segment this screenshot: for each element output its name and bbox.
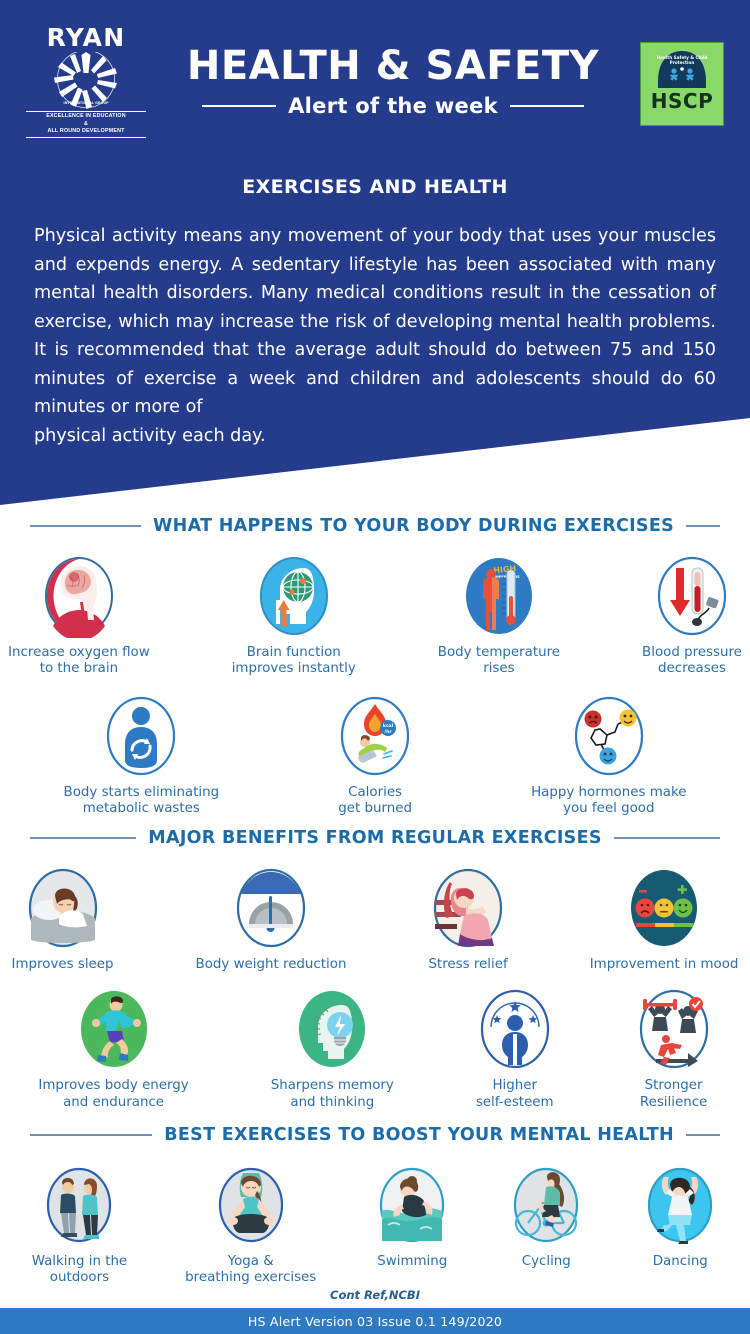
header: RYAN: [0, 24, 750, 144]
item-label: Improves sleep: [12, 957, 114, 973]
section-rule-left-3: [30, 1134, 152, 1136]
item-label: Sharpens memoryand thinking: [271, 1078, 394, 1111]
item-label: Yoga &breathing exercises: [185, 1254, 316, 1287]
hscp-acronym: HSCP: [651, 91, 713, 111]
brain-head-icon: [41, 554, 117, 638]
ryan-logo: RYAN: [26, 25, 146, 143]
section-title-3: BEST EXERCISES TO BOOST YOUR MENTAL HEAL…: [164, 1125, 674, 1145]
ryan-sunburst-icon: INTERNATIONAL GROUP: [49, 52, 123, 110]
item-label: Body starts eliminatingmetabolic wastes: [64, 785, 220, 818]
item-label: Brain functionimproves instantly: [232, 645, 356, 678]
relaxed-woman-icon: [430, 866, 506, 950]
thermometer-body-icon: HIGH TEMPERATURE: [461, 554, 537, 638]
section-rule-right-2: [614, 837, 720, 839]
svg-text:/hr: /hr: [384, 729, 392, 735]
serotonin-molecule-icon: [571, 694, 647, 778]
section-header-2: MAJOR BENEFITS FROM REGULAR EXERCISES: [0, 828, 750, 848]
body-recycle-icon: [103, 694, 179, 778]
section-best-exercises: BEST EXERCISES TO BOOST YOUR MENTAL HEAL…: [0, 1125, 750, 1287]
footer-version-bar: HS Alert Version 03 Issue 0.1 149/2020: [0, 1308, 750, 1334]
intro-paragraph-last-line: physical activity each day.: [34, 422, 716, 451]
item-label: Body weight reduction: [196, 957, 347, 973]
item-happy-hormones[interactable]: Happy hormones makeyou feel good: [531, 694, 686, 818]
title-rule-right: [510, 105, 584, 107]
item-swimming[interactable]: Swimming: [374, 1163, 450, 1270]
icon-row-3-1: Walking in theoutdoors: [0, 1163, 750, 1287]
weight-scale-icon: [233, 866, 309, 950]
item-yoga-breathing[interactable]: Yoga &breathing exercises: [185, 1163, 316, 1287]
icon-row-2-1: Improves sleep Body weight reduction: [0, 866, 750, 973]
svg-text:INTERNATIONAL GROUP: INTERNATIONAL GROUP: [63, 101, 109, 105]
item-blood-pressure[interactable]: Blood pressuredecreases: [642, 554, 742, 678]
section-title-1: WHAT HAPPENS TO YOUR BODY DURING EXERCIS…: [153, 516, 674, 536]
calorie-flame-icon: kcal /hr: [337, 694, 413, 778]
swimmer-icon: [374, 1163, 450, 1247]
ryan-logo-tagline: EXCELLENCE IN EDUCATION & ALL ROUND DEVE…: [26, 111, 146, 138]
cyclist-icon: [508, 1163, 584, 1247]
item-stronger-resilience[interactable]: StrongerResilience: [636, 987, 712, 1111]
item-stress-relief[interactable]: Stress relief: [428, 866, 507, 973]
ryan-logo-wordmark: RYAN: [26, 25, 146, 50]
item-label: StrongerResilience: [640, 1078, 707, 1111]
reference-note: Cont Ref,NCBI: [0, 1288, 750, 1302]
item-body-energy[interactable]: Improves body energyand endurance: [38, 987, 188, 1111]
intro-title: EXERCISES AND HEALTH: [34, 176, 716, 198]
section-what-happens: WHAT HAPPENS TO YOUR BODY DURING EXERCIS…: [0, 516, 750, 817]
title-rule-left: [202, 105, 276, 107]
footer-version-text: HS Alert Version 03 Issue 0.1 149/2020: [248, 1314, 502, 1329]
item-dancing[interactable]: Dancing: [642, 1163, 718, 1270]
item-walking-outdoors[interactable]: Walking in theoutdoors: [32, 1163, 127, 1287]
item-label: Caloriesget burned: [338, 785, 412, 818]
item-increase-oxygen-flow[interactable]: Increase oxygen flowto the brain: [8, 554, 150, 678]
item-label: Higherself-esteem: [476, 1078, 554, 1111]
item-label: Body temperaturerises: [438, 645, 560, 678]
page-title: HEALTH & SAFETY: [146, 45, 640, 87]
running-man-icon: [76, 987, 152, 1071]
icon-row-1-2: Body starts eliminatingmetabolic wastes …: [0, 694, 750, 818]
item-label: Swimming: [377, 1254, 447, 1270]
header-title-block: HEALTH & SAFETY Alert of the week: [146, 45, 640, 124]
item-label: Cycling: [522, 1254, 571, 1270]
item-cycling[interactable]: Cycling: [508, 1163, 584, 1270]
item-self-esteem[interactable]: Higherself-esteem: [476, 987, 554, 1111]
sleeping-person-icon: [25, 866, 101, 950]
item-label: Improves body energyand endurance: [38, 1078, 188, 1111]
section-rule-left-2: [30, 837, 136, 839]
item-calories-burned[interactable]: kcal /hr Caloriesget burned: [337, 694, 413, 818]
yoga-woman-icon: [213, 1163, 289, 1247]
svg-text:kcal: kcal: [383, 723, 394, 729]
ryan-tagline-line2: ALL ROUND DEVELOPMENT: [26, 128, 146, 136]
mood-faces-icon: [626, 866, 702, 950]
svg-text:Protection: Protection: [670, 60, 695, 65]
item-label: Dancing: [653, 1254, 708, 1270]
head-lightbulb-icon: [294, 987, 370, 1071]
item-label: Blood pressuredecreases: [642, 645, 742, 678]
section-title-2: MAJOR BENEFITS FROM REGULAR EXERCISES: [148, 828, 601, 848]
item-weight-reduction[interactable]: Body weight reduction: [196, 866, 347, 973]
hscp-arch-icon: Health Safety & Child Protection: [653, 48, 711, 90]
item-label: Happy hormones makeyou feel good: [531, 785, 686, 818]
section-rule-right-1: [686, 525, 720, 527]
item-body-temperature[interactable]: HIGH TEMPERATURE: [438, 554, 560, 678]
item-improves-sleep[interactable]: Improves sleep: [12, 866, 114, 973]
hscp-logo: Health Safety & Child Protection HSCP: [640, 42, 724, 126]
section-major-benefits: MAJOR BENEFITS FROM REGULAR EXERCISES: [0, 828, 750, 1111]
section-header-3: BEST EXERCISES TO BOOST YOUR MENTAL HEAL…: [0, 1125, 750, 1145]
section-header-1: WHAT HAPPENS TO YOUR BODY DURING EXERCIS…: [0, 516, 750, 536]
item-label: Increase oxygen flowto the brain: [8, 645, 150, 678]
infographic-page: RYAN: [0, 0, 750, 1334]
blood-pressure-icon: [654, 554, 730, 638]
confident-person-icon: [477, 987, 553, 1071]
icon-row-2-2: Improves body energyand endurance: [0, 987, 750, 1111]
item-improvement-in-mood[interactable]: Improvement in mood: [590, 866, 739, 973]
resilience-athletes-icon: [636, 987, 712, 1071]
head-globe-icon: [256, 554, 332, 638]
icon-row-1-1: Increase oxygen flowto the brain: [0, 554, 750, 678]
item-sharpens-memory[interactable]: Sharpens memoryand thinking: [271, 987, 394, 1111]
dancing-woman-icon: [642, 1163, 718, 1247]
intro-block: EXERCISES AND HEALTH Physical activity m…: [0, 176, 750, 450]
page-subtitle: Alert of the week: [288, 94, 498, 118]
ryan-tagline-line1: EXCELLENCE IN EDUCATION: [26, 113, 146, 121]
item-label: Walking in theoutdoors: [32, 1254, 127, 1287]
ryan-tagline-amp: &: [26, 121, 146, 129]
walking-couple-icon: [41, 1163, 117, 1247]
section-rule-right-3: [686, 1134, 720, 1136]
section-rule-left-1: [30, 525, 141, 527]
item-label: Improvement in mood: [590, 957, 739, 973]
item-eliminating-wastes[interactable]: Body starts eliminatingmetabolic wastes: [64, 694, 220, 818]
item-brain-function[interactable]: Brain functionimproves instantly: [232, 554, 356, 678]
item-label: Stress relief: [428, 957, 507, 973]
intro-paragraph: Physical activity means any movement of …: [34, 226, 716, 417]
